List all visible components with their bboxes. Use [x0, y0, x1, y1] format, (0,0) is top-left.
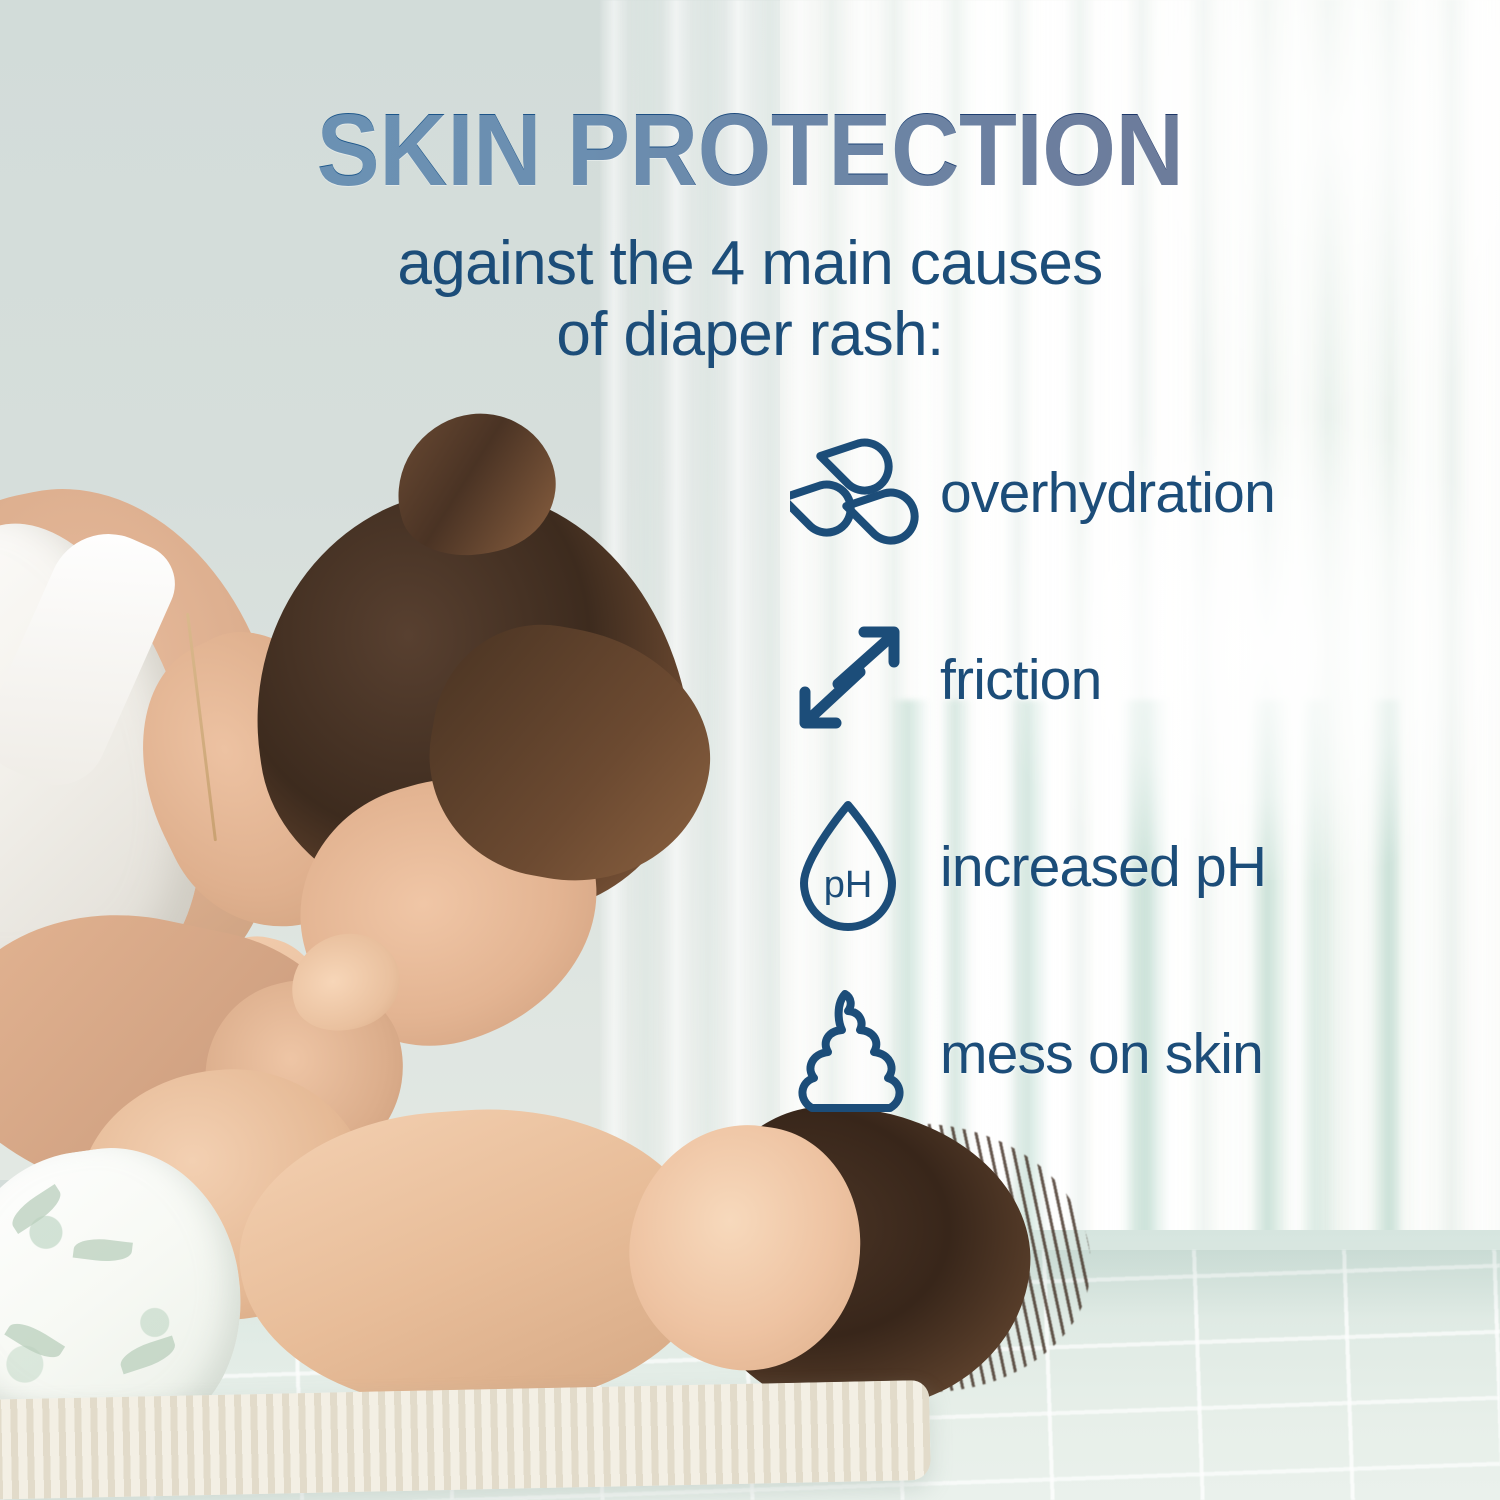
water-drops-icon	[790, 430, 940, 555]
advertisement-canvas: SKIN PROTECTION against the 4 main cause…	[0, 0, 1500, 1500]
cause-label: friction	[940, 647, 1101, 713]
hero-photo	[0, 380, 900, 1500]
cause-item-overhydration: overhydration	[790, 430, 1430, 555]
causes-list: overhydration friction	[790, 430, 1430, 1116]
cause-item-mess-on-skin: mess on skin	[790, 991, 1430, 1116]
cause-item-increased-ph: pH increased pH	[790, 804, 1430, 929]
diaper-leaf-print	[4, 1316, 65, 1365]
cause-label: overhydration	[940, 460, 1275, 526]
subtitle-line-1: against the 4 main causes	[0, 228, 1500, 299]
page-title: SKIN PROTECTION	[60, 98, 1440, 201]
page-subtitle: against the 4 main causes of diaper rash…	[0, 228, 1500, 371]
cause-label: increased pH	[940, 834, 1266, 900]
cause-label: mess on skin	[940, 1021, 1263, 1087]
ph-droplet-icon: pH	[790, 797, 940, 937]
cause-item-friction: friction	[790, 617, 1430, 742]
friction-arrows-icon	[790, 622, 940, 737]
ph-icon-text: pH	[824, 864, 873, 906]
diaper-leaf-print	[117, 1336, 179, 1375]
diaper-leaf-print	[73, 1236, 133, 1265]
subtitle-line-2: of diaper rash:	[0, 299, 1500, 370]
mess-icon	[790, 984, 940, 1124]
diaper-leaf-print	[6, 1184, 67, 1234]
knit-rug	[0, 1380, 931, 1500]
